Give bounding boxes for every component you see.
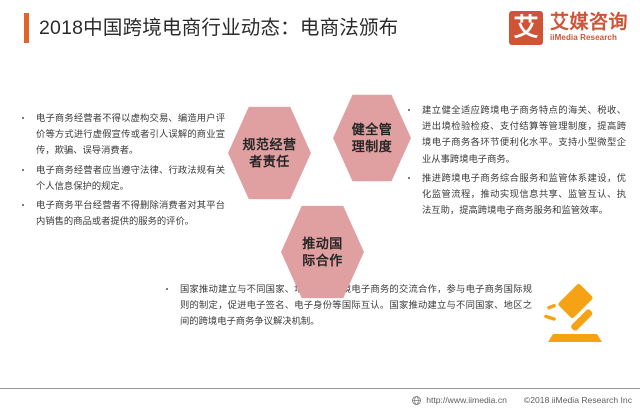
hexagon-regulate-operator-duty: 规范经营者责任 xyxy=(228,105,311,201)
logo-mark-glyph: 艾 xyxy=(509,16,543,41)
list-item: 推进跨境电子商务综合服务和监管体系建设，优化监管流程，推动实现信息共享、监管互认… xyxy=(404,170,626,219)
gavel-icon xyxy=(538,283,610,345)
list-item: 电子商务经营者应当遵守法律、行政法规有关个人信息保护的规定。 xyxy=(18,162,225,194)
hexagon-label: 健全管理制度 xyxy=(352,121,393,155)
page-header: 2018中国跨境电商行业动态：电商法颁布 艾 艾媒咨询 iiMedia Rese… xyxy=(0,0,640,58)
globe-icon xyxy=(412,396,421,405)
hexagon-improve-management-system: 健全管理制度 xyxy=(333,93,411,183)
logo-brand-cn: 艾媒咨询 xyxy=(550,13,628,33)
logo-text: 艾媒咨询 iiMedia Research xyxy=(550,13,628,43)
iimedia-logo: 艾 艾媒咨询 iiMedia Research xyxy=(509,11,628,45)
list-item: 建立健全适应跨境电子商务特点的海关、税收、进出境检验检疫、支付结算等管理制度，提… xyxy=(404,102,626,167)
iimedia-logo-mark-icon: 艾 xyxy=(509,11,543,45)
title-accent-bar xyxy=(24,13,29,43)
list-item: 电子商务平台经营者不得删除消费者对其平台内销售的商品或者提供的服务的评价。 xyxy=(18,197,225,229)
footer-divider xyxy=(0,388,640,389)
right-bullet-list: 建立健全适应跨境电子商务特点的海关、税收、进出境检验检疫、支付结算等管理制度，提… xyxy=(404,102,626,221)
footer-content: http://www.iimedia.cn ©2018 iiMedia Rese… xyxy=(412,395,632,405)
list-item: 电子商务经营者不得以虚构交易、编造用户评价等方式进行虚假宣传或者引人误解的商业宣… xyxy=(18,110,225,159)
logo-brand-en: iiMedia Research xyxy=(550,34,628,43)
footer-url[interactable]: http://www.iimedia.cn xyxy=(426,395,507,405)
hexagon-label: 规范经营者责任 xyxy=(242,136,296,170)
footer-copyright: ©2018 iiMedia Research Inc xyxy=(524,395,632,405)
slide-body: 电子商务经营者不得以虚构交易、编造用户评价等方式进行虚假宣传或者引人误解的商业宣… xyxy=(0,58,640,388)
left-bullet-list: 电子商务经营者不得以虚构交易、编造用户评价等方式进行虚假宣传或者引人误解的商业宣… xyxy=(18,110,225,232)
page-title: 2018中国跨境电商行业动态：电商法颁布 xyxy=(39,11,398,40)
hexagon-label: 推动国际合作 xyxy=(302,235,343,269)
page-footer: http://www.iimedia.cn ©2018 iiMedia Rese… xyxy=(0,388,640,416)
